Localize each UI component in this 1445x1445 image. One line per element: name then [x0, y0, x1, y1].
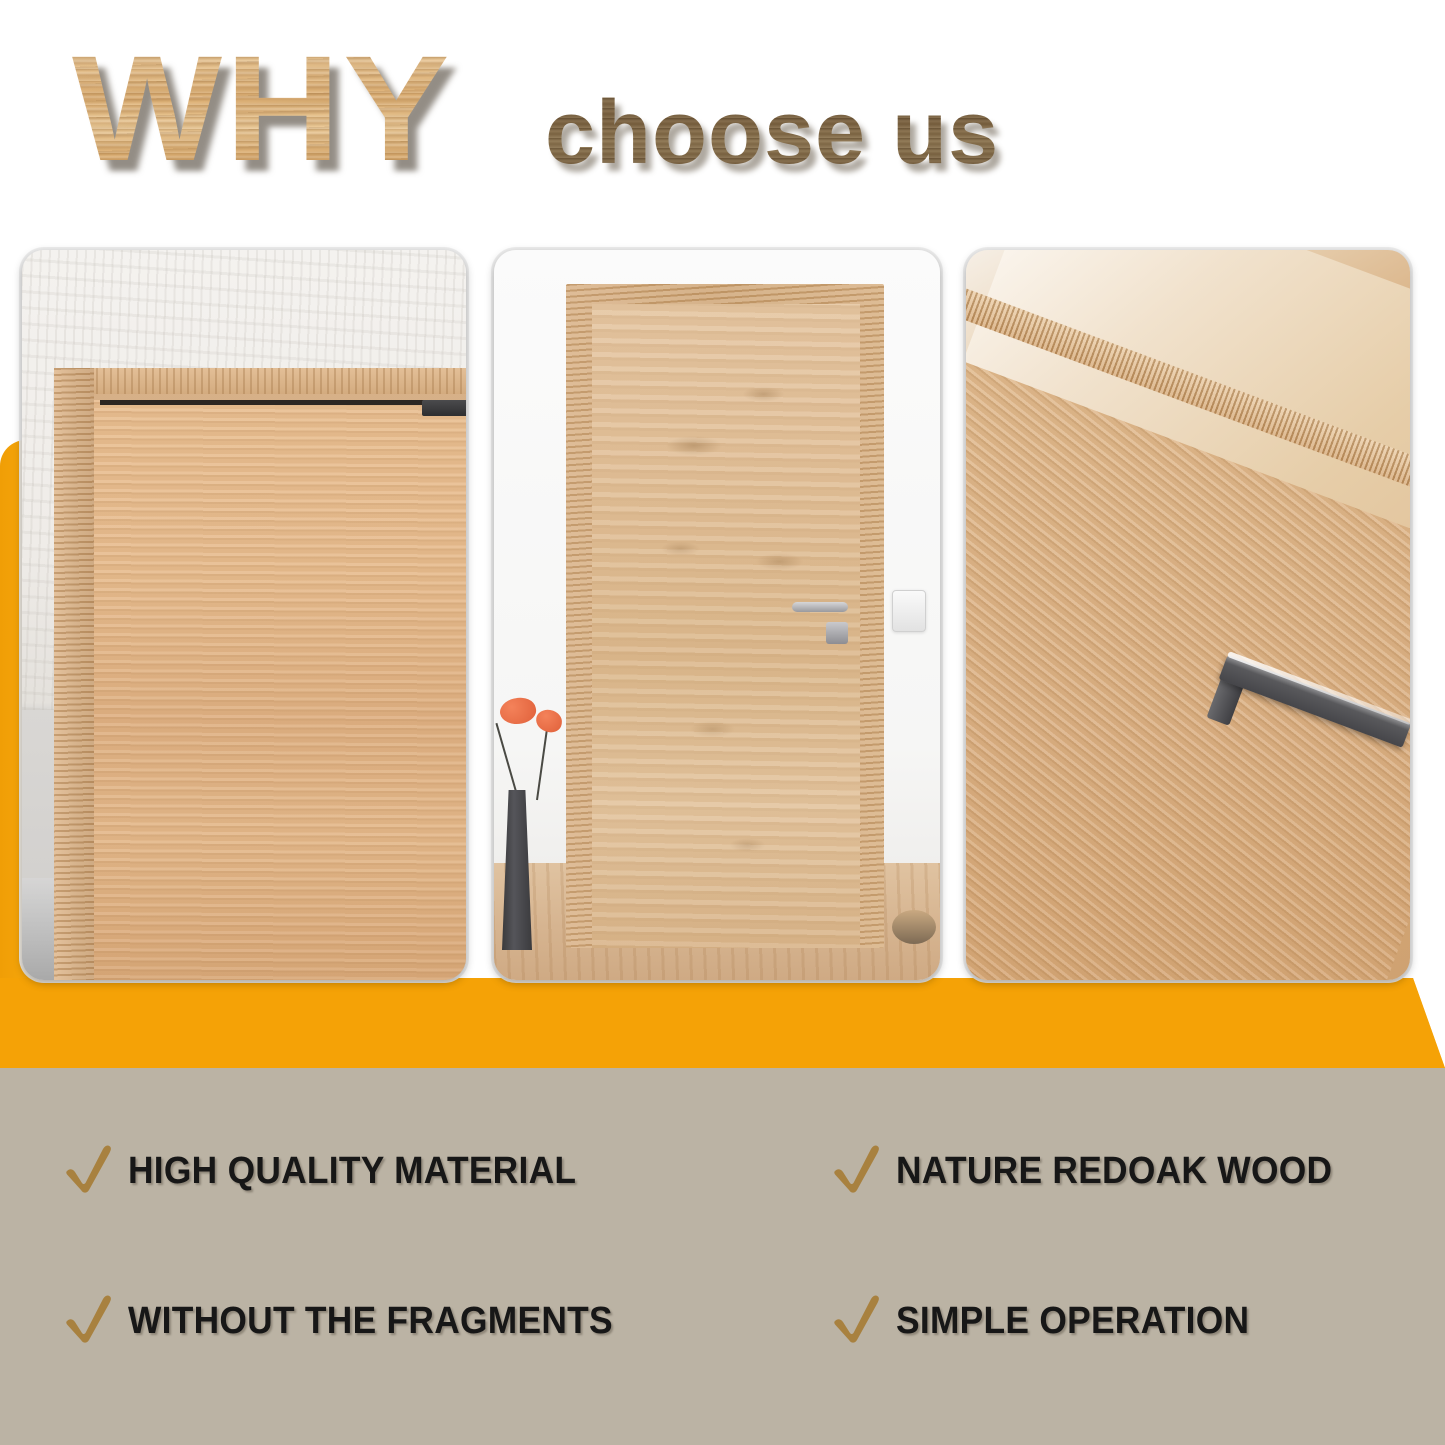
cabinet-door-gap-line: [100, 400, 430, 405]
feature-label: WITHOUT THE FRAGMENTS: [128, 1298, 613, 1344]
header: WHY choose us: [0, 0, 1445, 232]
check-icon: [828, 1288, 890, 1350]
feature-label: SIMPLE OPERATION: [896, 1298, 1249, 1344]
cabinet-door-panel: [94, 400, 466, 980]
check-icon: [60, 1138, 122, 1200]
wall-light-switch: [892, 590, 926, 632]
door-lever-handle: [792, 602, 848, 612]
cabinet-top-rail: [54, 368, 466, 394]
gallery-image-oak-door[interactable]: [494, 250, 940, 980]
gallery-image-oak-cabinet[interactable]: [22, 250, 466, 980]
door-lock-escutcheon: [826, 622, 848, 644]
cabinet-left-stile: [54, 368, 94, 980]
cabinet-bar-handle: [422, 400, 466, 416]
feature-item-simple-operation: SIMPLE OPERATION: [828, 1290, 1276, 1352]
wood-log-decor: [892, 910, 936, 944]
check-icon: [60, 1288, 122, 1350]
features-section: [0, 1068, 1445, 1445]
feature-item-without-the-fragments: WITHOUT THE FRAGMENTS: [60, 1290, 649, 1352]
feature-label: HIGH QUALITY MATERIAL: [128, 1148, 576, 1194]
feature-item-high-quality-material: HIGH QUALITY MATERIAL: [60, 1140, 610, 1202]
gallery-image-oak-edge-closeup[interactable]: [966, 250, 1410, 980]
page-title-primary: WHY: [72, 33, 452, 183]
feature-item-nature-redoak-wood: NATURE REDOAK WOOD: [828, 1140, 1365, 1202]
page-title-secondary: choose us: [545, 88, 999, 178]
orange-band-horizontal: [0, 978, 1445, 1068]
door-leaf: [592, 304, 860, 948]
feature-label: NATURE REDOAK WOOD: [896, 1148, 1332, 1194]
check-icon: [828, 1138, 890, 1200]
